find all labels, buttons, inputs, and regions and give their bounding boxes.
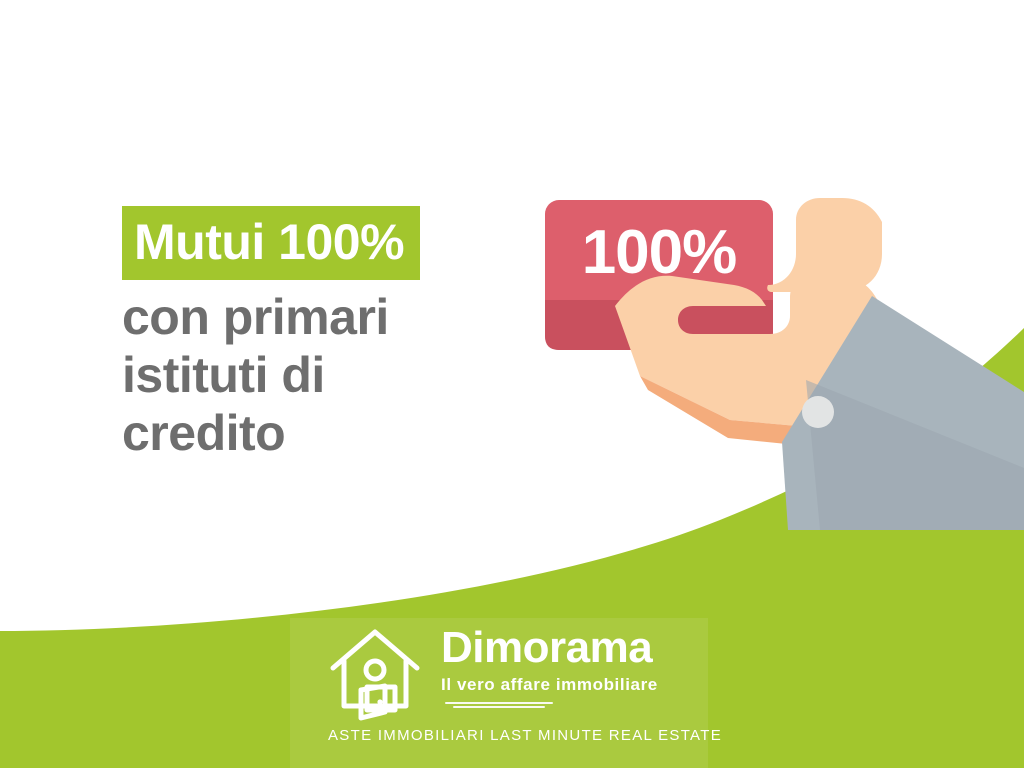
headline-line-1: con primari xyxy=(122,288,552,346)
logo-name: Dimorama xyxy=(441,626,711,670)
logo-wordmark-block: Dimorama Il vero affare immobiliare xyxy=(441,626,711,707)
logo-divider-rule xyxy=(445,702,553,707)
house-with-open-door-icon xyxy=(325,624,425,724)
logo-subline: ASTE IMMOBILIARI LAST MINUTE REAL ESTATE xyxy=(328,728,708,743)
hand-index-finger xyxy=(767,198,882,292)
logo-tagline: Il vero affare immobiliare xyxy=(441,676,711,693)
hand-holding-100-percent-card: 100% xyxy=(520,180,1024,530)
headline-subtext: con primari istituti di credito xyxy=(122,288,552,462)
cuff-button-icon xyxy=(802,396,834,428)
headline-line-3: credito xyxy=(122,404,552,462)
dimorama-logo: Dimorama Il vero affare immobiliare ASTE… xyxy=(325,620,705,750)
promo-banner: Mutui 100% con primari istituti di credi… xyxy=(0,0,1024,768)
headline-highlight-wrap: Mutui 100% xyxy=(122,206,552,280)
headline-line-2: istituti di xyxy=(122,346,552,404)
hand-and-sleeve-illustration xyxy=(520,180,1024,530)
headline-highlight: Mutui 100% xyxy=(122,206,420,280)
headline-block: Mutui 100% con primari istituti di credi… xyxy=(122,206,552,462)
